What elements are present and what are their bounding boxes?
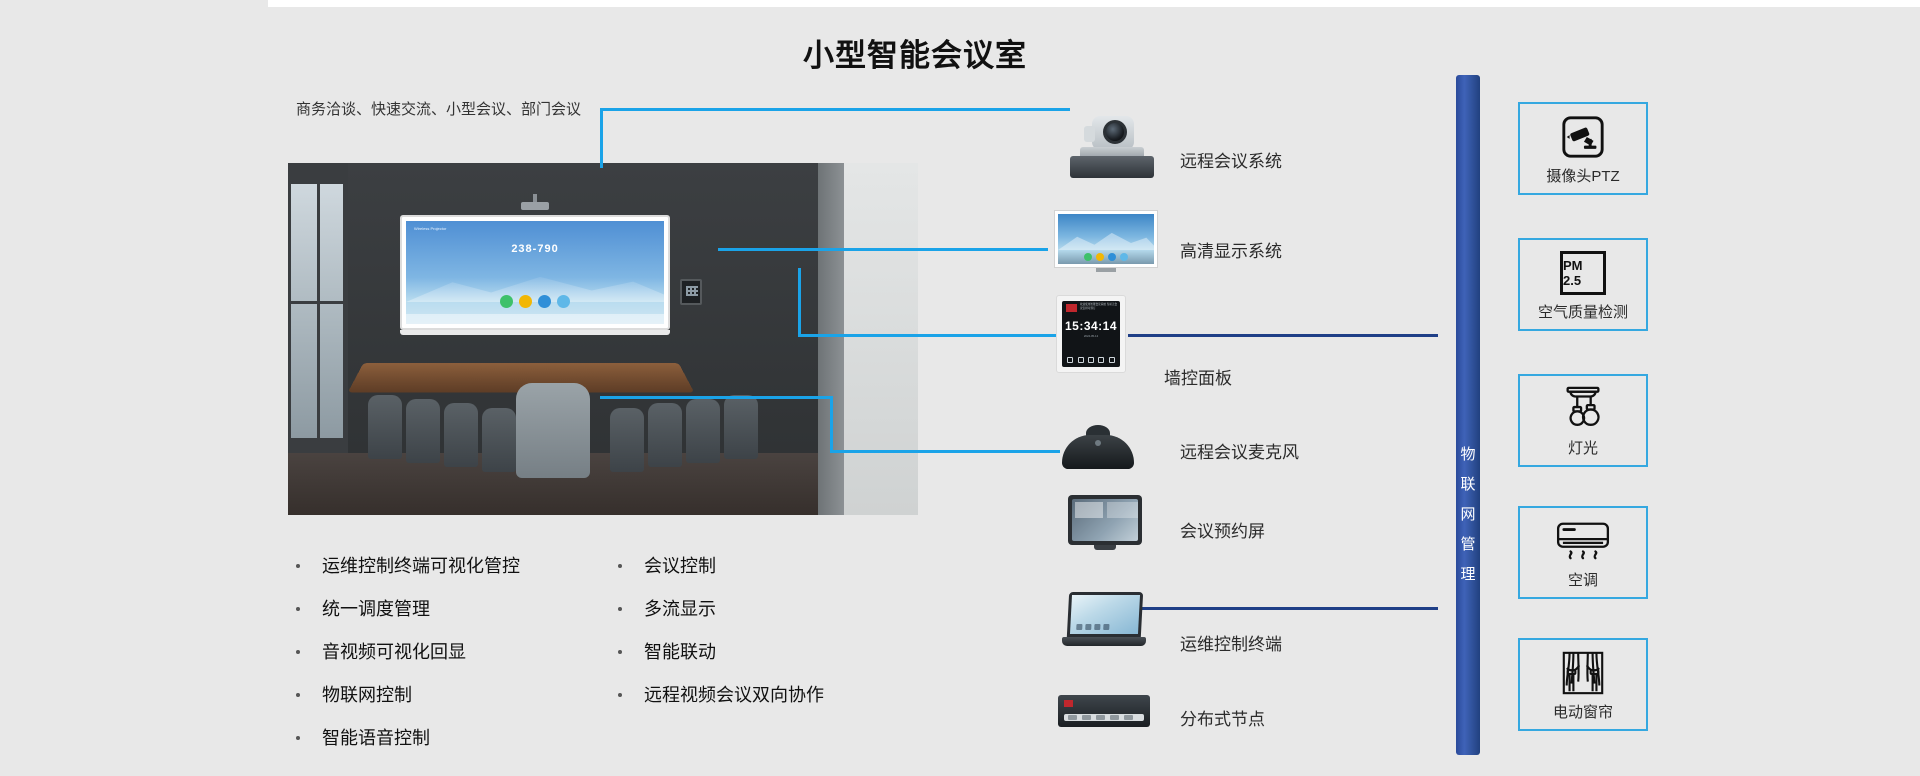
connector-line-mic <box>830 450 1060 453</box>
device-icon-hd-display-system <box>1054 210 1158 274</box>
curtain-icon <box>1559 647 1607 699</box>
room-wall-keypad <box>680 279 702 305</box>
feature-text: 智能联动 <box>644 638 716 664</box>
connector-line-display <box>718 248 1048 251</box>
iot-bar-char: 联 <box>1460 470 1475 500</box>
list-item: 统一调度管理 <box>296 595 520 621</box>
top-white-strip <box>268 0 1920 7</box>
bullet-dot-icon <box>618 564 622 568</box>
room-chair <box>406 399 440 463</box>
iot-card-label: 灯光 <box>1568 437 1598 458</box>
cctv-camera-icon <box>1560 111 1606 163</box>
room-chair <box>444 403 478 467</box>
list-item: 音视频可视化回显 <box>296 638 520 664</box>
feature-list-left: 运维控制终端可视化管控 统一调度管理 音视频可视化回显 物联网控制 智能语音控制 <box>296 552 520 767</box>
connector-line-mic-down <box>830 396 833 452</box>
room-screen-title: Wireless Projector <box>414 226 446 231</box>
page-title: 小型智能会议室 <box>0 30 1920 75</box>
connector-line-camera-down <box>600 108 603 168</box>
feature-text: 统一调度管理 <box>322 595 430 621</box>
feature-text: 远程视频会议双向协作 <box>644 681 824 707</box>
iot-card-label: 电动窗帘 <box>1553 701 1613 722</box>
wall-panel-icon-row <box>1062 357 1120 363</box>
room-chair <box>610 408 644 472</box>
list-item: 多流显示 <box>618 595 824 621</box>
bullet-dot-icon <box>618 650 622 654</box>
device-label-remote-conference-system: 远程会议系统 <box>1180 147 1282 172</box>
connector-line-wallpanel-up <box>798 268 801 337</box>
device-icon-distributed-node <box>1058 695 1150 733</box>
iot-card-air-conditioner[interactable]: 空调 <box>1518 506 1648 599</box>
connector-line-wallpanel <box>798 334 1056 337</box>
room-screen-dock <box>500 295 570 308</box>
room-window <box>288 181 346 441</box>
wall-panel-time: 15:34:14 <box>1062 319 1120 333</box>
room-screen-code: 238-790 <box>406 243 664 255</box>
connector-line-mic-top <box>600 396 832 399</box>
air-conditioner-icon <box>1554 515 1612 567</box>
iot-bar-char: 网 <box>1460 500 1475 530</box>
iot-card-camera-ptz[interactable]: 摄像头PTZ <box>1518 102 1648 195</box>
pm25-icon: PM 2.5 <box>1560 247 1606 299</box>
list-item: 运维控制终端可视化管控 <box>296 552 520 578</box>
bullet-dot-icon <box>296 693 300 697</box>
wall-panel-header-text: 欢迎使用智能会议系统 当前无会议安排可预订 <box>1080 303 1118 312</box>
connector-line-camera <box>600 108 1070 111</box>
connector-line-wallpanel-iot <box>1128 334 1438 337</box>
iot-card-label: 空调 <box>1568 569 1598 590</box>
device-icon-ops-control-terminal <box>1062 592 1146 650</box>
device-icon-meeting-booking-screen <box>1068 495 1142 551</box>
list-item: 物联网控制 <box>296 681 520 707</box>
wall-panel-date: 2024-05-12 <box>1062 334 1120 338</box>
bullet-dot-icon <box>296 564 300 568</box>
room-chair <box>686 399 720 463</box>
device-label-distributed-node: 分布式节点 <box>1180 705 1265 730</box>
bullet-dot-icon <box>296 650 300 654</box>
feature-text: 多流显示 <box>644 595 716 621</box>
iot-card-label: 摄像头PTZ <box>1546 165 1619 186</box>
bullet-dot-icon <box>618 607 622 611</box>
iot-card-lighting[interactable]: 灯光 <box>1518 374 1648 467</box>
wall-panel-logo <box>1066 304 1077 312</box>
feature-text: 音视频可视化回显 <box>322 638 466 664</box>
device-label-ops-control-terminal: 运维控制终端 <box>1180 630 1282 655</box>
room-chair <box>482 408 516 472</box>
iot-card-air-quality[interactable]: PM 2.5 空气质量检测 <box>1518 238 1648 331</box>
iot-bar-char: 物 <box>1460 440 1475 470</box>
page-subtitle: 商务洽谈、快速交流、小型会议、部门会议 <box>296 98 581 119</box>
device-icon-remote-conference-system <box>1070 108 1154 178</box>
connector-line-ops-iot <box>1128 607 1438 610</box>
room-chair <box>724 395 758 459</box>
device-label-hd-display-system: 高清显示系统 <box>1180 237 1282 262</box>
feature-text: 运维控制终端可视化管控 <box>322 552 520 578</box>
conference-room-photo: Wireless Projector 238-790 <box>288 163 918 515</box>
slide-canvas: 小型智能会议室 商务洽谈、快速交流、小型会议、部门会议 Wireless Pro… <box>0 0 1920 776</box>
room-camera-icon <box>521 194 549 214</box>
list-item: 会议控制 <box>618 552 824 578</box>
room-pillar <box>818 163 844 515</box>
room-chair-front <box>516 383 590 478</box>
device-icon-conference-microphone <box>1062 425 1134 469</box>
iot-card-label: 空气质量检测 <box>1538 301 1628 322</box>
feature-text: 智能语音控制 <box>322 724 430 750</box>
device-icon-wall-control-panel: 欢迎使用智能会议系统 当前无会议安排可预订 15:34:14 2024-05-1… <box>1056 295 1126 373</box>
pm25-icon-text: PM 2.5 <box>1563 258 1603 288</box>
device-label-wall-control-panel: 墙控面板 <box>1164 364 1232 389</box>
feature-text: 物联网控制 <box>322 681 412 707</box>
iot-card-motorized-curtain[interactable]: 电动窗帘 <box>1518 638 1648 731</box>
room-interactive-display: Wireless Projector 238-790 <box>400 215 670 330</box>
device-label-conference-microphone: 远程会议麦克风 <box>1180 438 1299 463</box>
list-item: 远程视频会议双向协作 <box>618 681 824 707</box>
list-item: 智能联动 <box>618 638 824 664</box>
bullet-dot-icon <box>618 693 622 697</box>
feature-text: 会议控制 <box>644 552 716 578</box>
iot-bar-char: 管 <box>1460 530 1475 560</box>
bullet-dot-icon <box>296 607 300 611</box>
room-chair <box>368 395 402 459</box>
room-chair <box>648 403 682 467</box>
iot-bar-label: 物 联 网 管 理 <box>1460 440 1475 590</box>
bullet-dot-icon <box>296 736 300 740</box>
device-label-meeting-booking-screen: 会议预约屏 <box>1180 517 1265 542</box>
pendant-lights-icon <box>1558 383 1608 435</box>
iot-bar-char: 理 <box>1460 560 1475 590</box>
page-title-text: 小型智能会议室 <box>803 30 1027 75</box>
list-item: 智能语音控制 <box>296 724 520 750</box>
iot-management-bar: 物 联 网 管 理 <box>1456 75 1480 755</box>
feature-list-right: 会议控制 多流显示 智能联动 远程视频会议双向协作 <box>618 552 824 724</box>
